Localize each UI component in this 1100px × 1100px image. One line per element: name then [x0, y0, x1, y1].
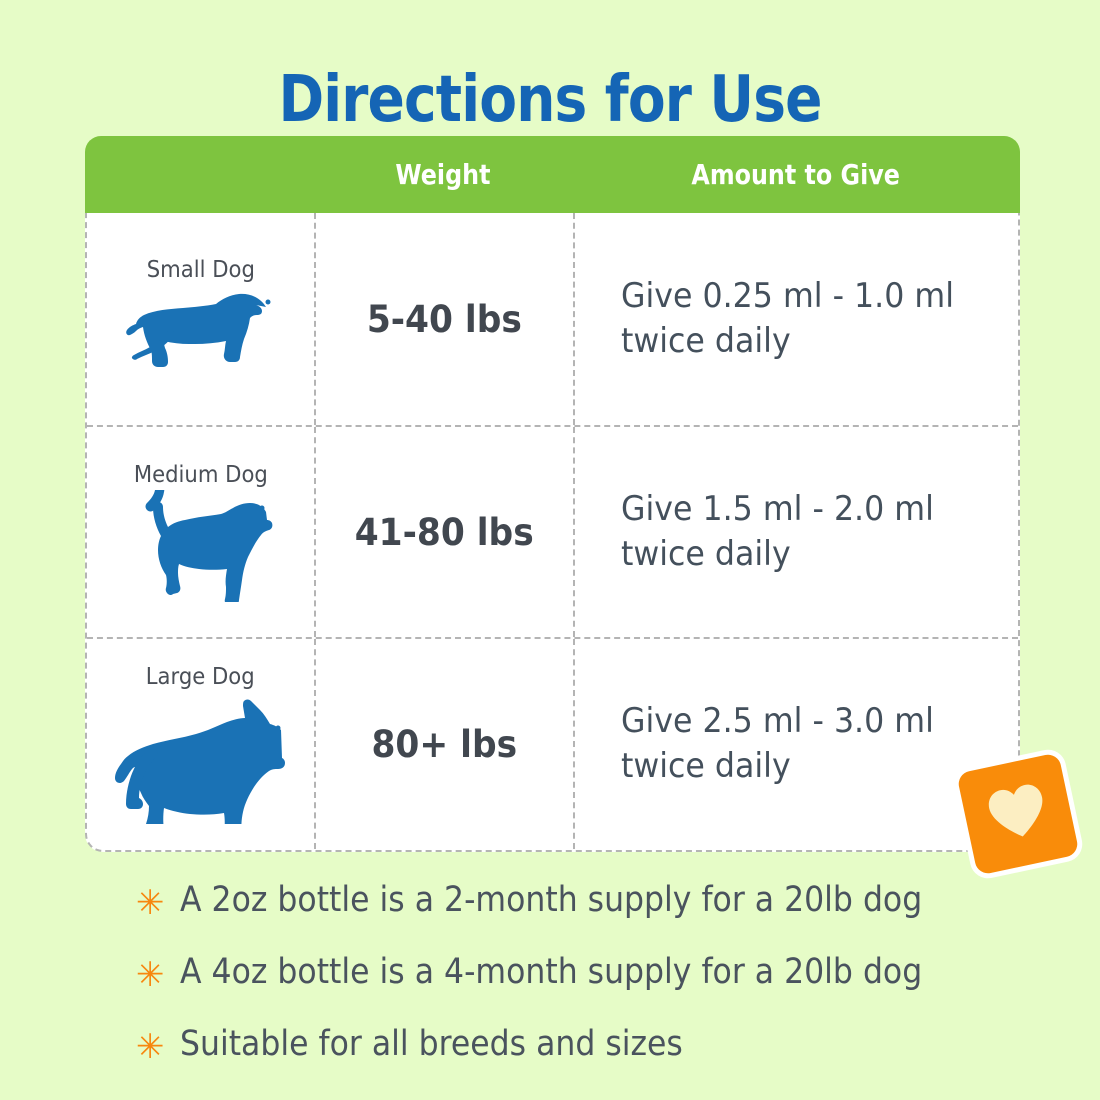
- table-row: Large Dog 80+ lbs Give 2.5 ml - 3.0 ml t…: [87, 637, 1018, 849]
- dog-size-label: Large Dog: [146, 664, 255, 690]
- cell-amount: Give 0.25 ml - 1.0 ml twice daily: [575, 213, 1018, 425]
- table-header-row: Weight Amount to Give: [85, 136, 1020, 213]
- table-row: Medium Dog 41-80 lbs Give 1.5 ml - 2.0 m…: [87, 425, 1018, 637]
- page-title: Directions for Use: [77, 67, 1023, 134]
- dog-size-label: Medium Dog: [133, 462, 267, 488]
- table-body: Small Dog 5-40 lbs Give 0.25 ml - 1.0 ml…: [87, 213, 1018, 850]
- shepherd-silhouette-icon: [106, 692, 296, 824]
- dog-size-label: Small Dog: [146, 257, 254, 283]
- asterisk-bullet-icon: ✳: [136, 1030, 180, 1064]
- cell-weight: 5-40 lbs: [314, 213, 575, 425]
- cell-weight: 80+ lbs: [314, 639, 575, 849]
- beagle-silhouette-icon: [126, 490, 276, 602]
- list-item: ✳ A 2oz bottle is a 2-month supply for a…: [136, 880, 1036, 952]
- note-text: Suitable for all breeds and sizes: [180, 1024, 683, 1064]
- column-header-amount: Amount to Give: [573, 136, 1018, 213]
- asterisk-bullet-icon: ✳: [136, 958, 180, 992]
- list-item: ✳ A 4oz bottle is a 4-month supply for a…: [136, 952, 1036, 1024]
- asterisk-bullet-icon: ✳: [136, 886, 180, 920]
- table-row: Small Dog 5-40 lbs Give 0.25 ml - 1.0 ml…: [87, 213, 1018, 425]
- dachshund-silhouette-icon: [116, 285, 286, 381]
- cell-dog-size: Medium Dog: [87, 427, 314, 637]
- cell-amount: Give 2.5 ml - 3.0 ml twice daily: [575, 639, 1018, 849]
- cell-weight: 41-80 lbs: [314, 427, 575, 637]
- cell-amount: Give 1.5 ml - 2.0 ml twice daily: [575, 427, 1018, 637]
- notes-list: ✳ A 2oz bottle is a 2-month supply for a…: [136, 880, 1036, 1096]
- note-text: A 2oz bottle is a 2-month supply for a 2…: [180, 880, 922, 920]
- heart-badge: [956, 752, 1079, 875]
- cell-dog-size: Small Dog: [87, 213, 314, 425]
- list-item: ✳ Suitable for all breeds and sizes: [136, 1024, 1036, 1096]
- note-text: A 4oz bottle is a 4-month supply for a 2…: [180, 952, 922, 992]
- column-header-weight: Weight: [312, 136, 573, 213]
- heart-icon: [984, 779, 1053, 849]
- cell-dog-size: Large Dog: [87, 639, 314, 849]
- dosage-table: Weight Amount to Give Small Dog 5-40 lbs: [85, 136, 1020, 852]
